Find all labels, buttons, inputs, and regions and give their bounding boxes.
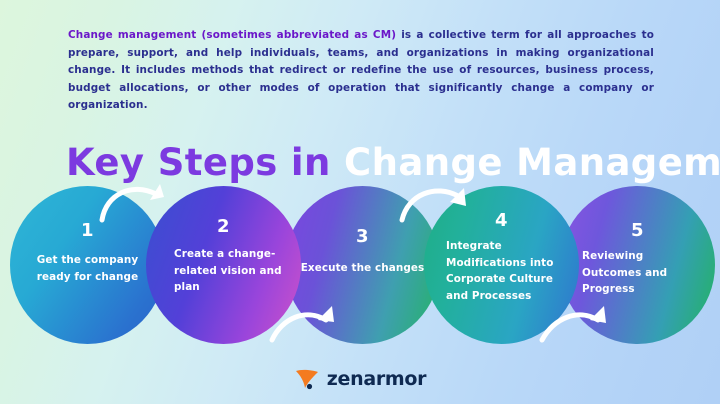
- step-label-2: Create a change-related vision and plan: [146, 246, 301, 296]
- step-circle-1[interactable]: 1 Get the company ready for change: [10, 186, 165, 344]
- step-label-3: Execute the changes: [285, 260, 440, 277]
- zenarmor-mark-icon: [294, 368, 320, 390]
- step-number-3: 3: [285, 228, 440, 246]
- step-circle-5[interactable]: 5 Reviewing Outcomes and Progress: [560, 186, 715, 344]
- step-label-5: Reviewing Outcomes and Progress: [560, 248, 715, 298]
- page-title-plain: Change Management: [331, 141, 720, 184]
- step-circle-row: 1 Get the company ready for change 2 Cre…: [0, 186, 720, 346]
- step-label-4: Integrate Modifications into Corporate C…: [424, 238, 579, 304]
- step-circle-4[interactable]: 4 Integrate Modifications into Corporate…: [424, 186, 579, 344]
- step-number-1: 1: [10, 222, 165, 240]
- step-circle-3[interactable]: 3 Execute the changes: [285, 186, 440, 344]
- intro-lead-phrase: Change management (sometimes abbreviated…: [68, 29, 396, 41]
- step-label-1: Get the company ready for change: [10, 252, 165, 285]
- step-number-5: 5: [560, 222, 715, 240]
- step-number-2: 2: [146, 218, 301, 236]
- brand-logo: zenarmor: [0, 368, 720, 390]
- page-title-accent: Key Steps in: [66, 141, 331, 184]
- infographic-canvas: Change management (sometimes abbreviated…: [0, 0, 720, 404]
- intro-paragraph: Change management (sometimes abbreviated…: [68, 27, 654, 114]
- page-title: Key Steps in Change Management: [66, 141, 720, 184]
- zenarmor-wordmark: zenarmor: [327, 368, 426, 390]
- step-number-4: 4: [424, 212, 579, 230]
- step-circle-2[interactable]: 2 Create a change-related vision and pla…: [146, 186, 301, 344]
- intro-body-text: is a collective term for all approaches …: [68, 29, 654, 111]
